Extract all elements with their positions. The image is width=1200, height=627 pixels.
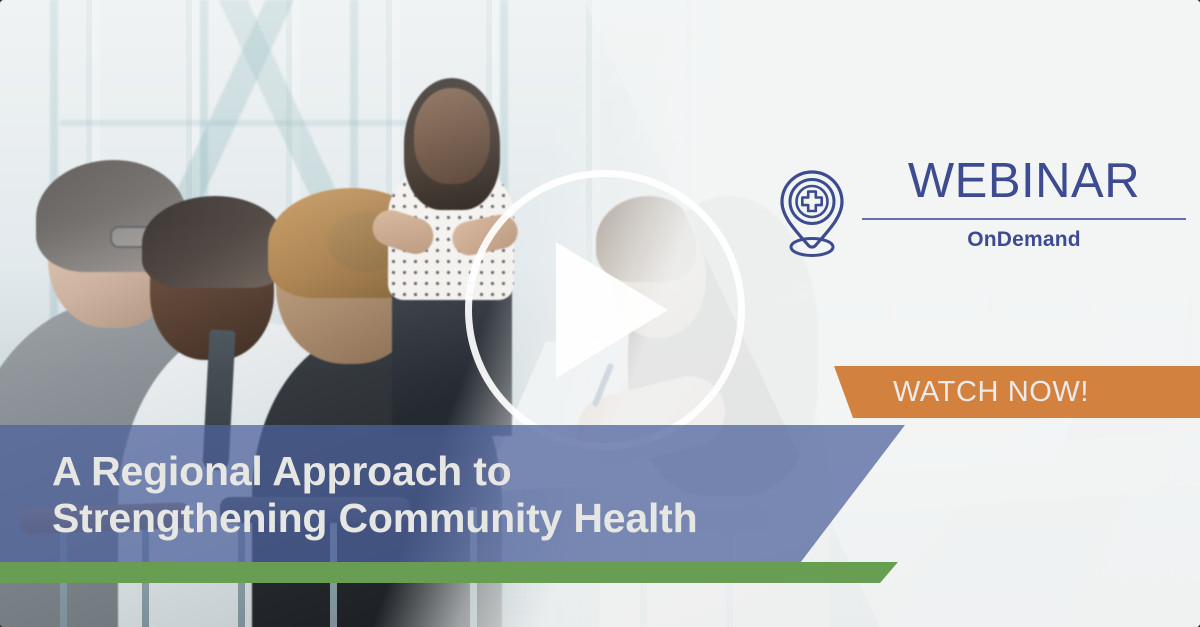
- page-title: A Regional Approach to Strengthening Com…: [52, 448, 932, 541]
- map-pin-medical-cross-icon: [774, 167, 850, 259]
- webinar-badge: WEBINAR OnDemand: [766, 155, 1186, 265]
- webinar-subtitle: OnDemand: [862, 228, 1186, 252]
- badge-text-group: WEBINAR OnDemand: [862, 155, 1186, 252]
- green-accent-bar: [0, 562, 920, 583]
- page-title-line-2: Strengthening Community Health: [52, 495, 932, 542]
- watch-now-button[interactable]: WATCH NOW!: [820, 366, 1200, 418]
- play-video-button[interactable]: [465, 170, 745, 450]
- badge-divider: [862, 218, 1186, 220]
- watch-now-label: WATCH NOW!: [893, 376, 1127, 409]
- webinar-promo-card: WEBINAR OnDemand WATCH NOW! A Regional A…: [0, 0, 1200, 627]
- webinar-title: WEBINAR: [862, 155, 1186, 206]
- page-title-line-1: A Regional Approach to: [52, 448, 512, 494]
